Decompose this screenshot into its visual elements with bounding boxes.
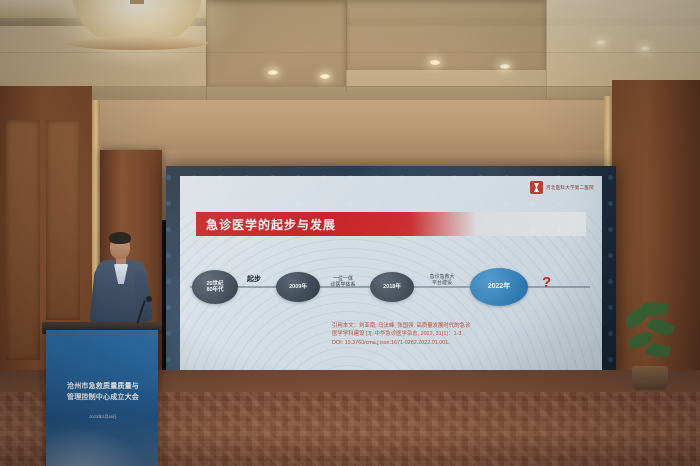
wall-left-panel-2 [46, 120, 80, 320]
led-screen: 河北医科大学第二医院 急诊医学的起步与发展 20世纪80年代 起步 2009年 … [166, 166, 616, 381]
ceiling-vline-b [346, 0, 347, 92]
downlight-5 [596, 40, 606, 45]
speaker-hair [109, 232, 131, 244]
podium-banner-date: 2023年2月18日 [52, 414, 154, 420]
podium-banner-line-2: 管理控制中心成立大会 [52, 393, 154, 404]
chandelier-rim [66, 36, 208, 50]
ceiling-vline-c [546, 0, 547, 100]
plant-pot [632, 366, 668, 390]
podium-banner-line-1: 沧州市急救质量质量与 [52, 382, 154, 393]
photo-scene: 河北医科大学第二医院 急诊医学的起步与发展 20世纪80年代 起步 2009年 … [0, 0, 700, 466]
screen-glare [166, 166, 616, 381]
podium-banner-title: 沧州市急救质量质量与 管理控制中心成立大会 [52, 382, 154, 403]
downlight-1 [268, 70, 278, 75]
ceiling-recess-mid [346, 0, 546, 70]
wall-left-panel-1 [6, 120, 40, 360]
podium-wave-graphic [46, 418, 158, 466]
downlight-4 [500, 64, 510, 69]
chandelier-stem [130, 0, 144, 4]
downlight-2 [320, 74, 330, 79]
downlight-3 [430, 60, 440, 65]
downlight-6 [640, 46, 650, 51]
microphone-head [146, 296, 152, 302]
plant-leaf-5 [645, 341, 672, 360]
